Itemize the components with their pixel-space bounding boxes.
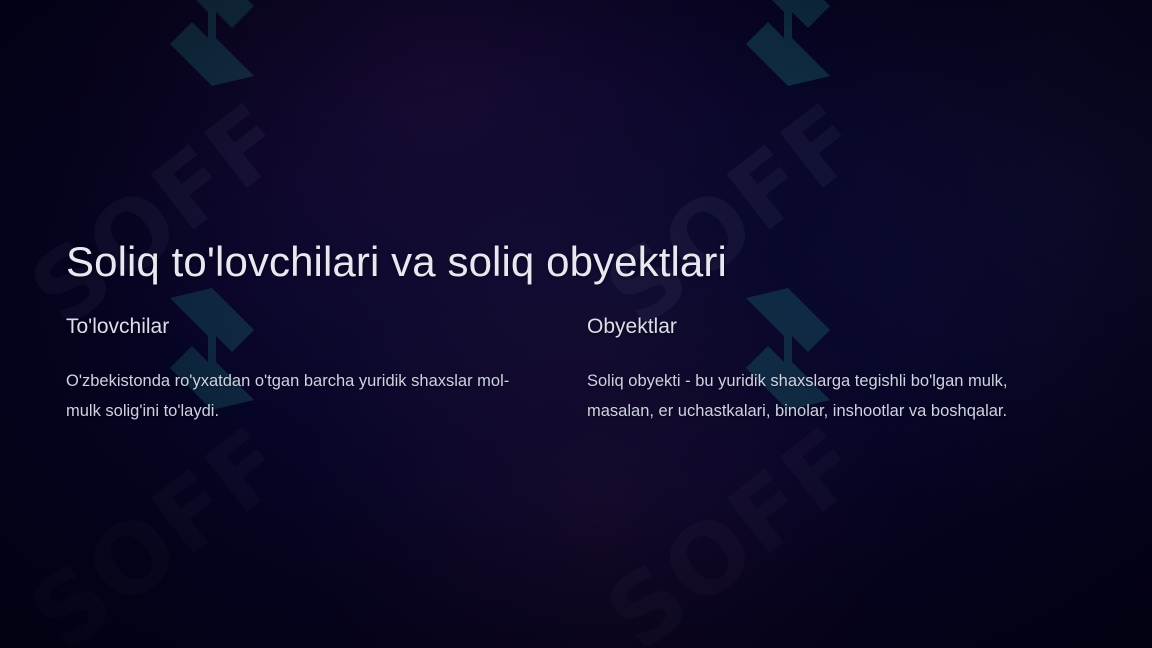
column-tolovchilar: To'lovchilar O'zbekistonda ro'yxatdan o'…	[66, 313, 535, 426]
column-body: O'zbekistonda ro'yxatdan o'tgan barcha y…	[66, 366, 535, 426]
presentation-slide: SOFF SOFF SOFF SOFF SOFF	[0, 0, 1152, 648]
slide-content: Soliq to'lovchilari va soliq obyektlari …	[66, 0, 1086, 648]
page-title: Soliq to'lovchilari va soliq obyektlari	[66, 238, 727, 286]
column-heading: To'lovchilar	[66, 313, 535, 340]
content-columns: To'lovchilar O'zbekistonda ro'yxatdan o'…	[66, 313, 1056, 426]
column-heading: Obyektlar	[587, 313, 1056, 340]
column-obyektlar: Obyektlar Soliq obyekti - bu yuridik sha…	[587, 313, 1056, 426]
column-body: Soliq obyekti - bu yuridik shaxslarga te…	[587, 366, 1056, 426]
